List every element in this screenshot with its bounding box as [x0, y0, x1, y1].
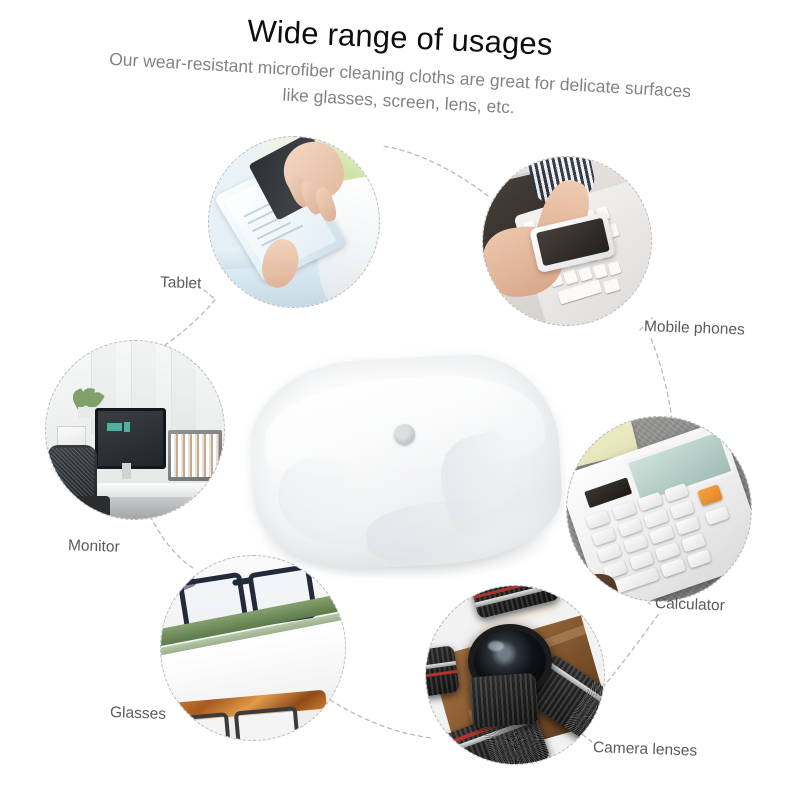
connector-tablet-monitor: [165, 300, 215, 345]
scene-calculator: [566, 416, 752, 602]
connector-glasses-lenses: [330, 700, 432, 738]
use-case-circle-camera-lenses[interactable]: [425, 585, 605, 765]
computer-monitor: [95, 408, 167, 469]
use-case-circle-tablet[interactable]: [208, 136, 380, 308]
use-case-circle-calculator[interactable]: [566, 416, 752, 602]
label-glasses: Glasses: [110, 704, 167, 724]
label-mobile-phones: Mobile phones: [644, 318, 745, 340]
chair-seat: [55, 496, 110, 520]
label-monitor: Monitor: [68, 537, 120, 557]
header: Wide range of usages Our wear-resistant …: [0, 0, 800, 140]
books: [171, 434, 218, 478]
scene-glasses: [160, 555, 346, 741]
label-camera-lenses: Camera lenses: [593, 739, 698, 761]
center-product-package: [246, 352, 570, 586]
infographic-page: Wide range of usages Our wear-resistant …: [0, 0, 800, 800]
use-case-circle-mobile-phones[interactable]: [482, 156, 652, 326]
connector-calculator-mobile: [650, 336, 672, 420]
camera-lens-center-barrel: [470, 673, 539, 728]
use-case-circle-monitor[interactable]: [45, 340, 225, 520]
connector-mobile-tablet: [382, 146, 488, 196]
label-tablet: Tablet: [160, 274, 202, 293]
scene-monitor: [45, 340, 225, 520]
scene-mobile-phones: [482, 156, 652, 326]
scene-tablet: [208, 136, 380, 308]
use-case-circle-glasses[interactable]: [160, 555, 346, 741]
scene-camera-lenses: [425, 585, 605, 765]
package-snap-button: [394, 424, 415, 445]
label-calculator: Calculator: [655, 595, 725, 615]
